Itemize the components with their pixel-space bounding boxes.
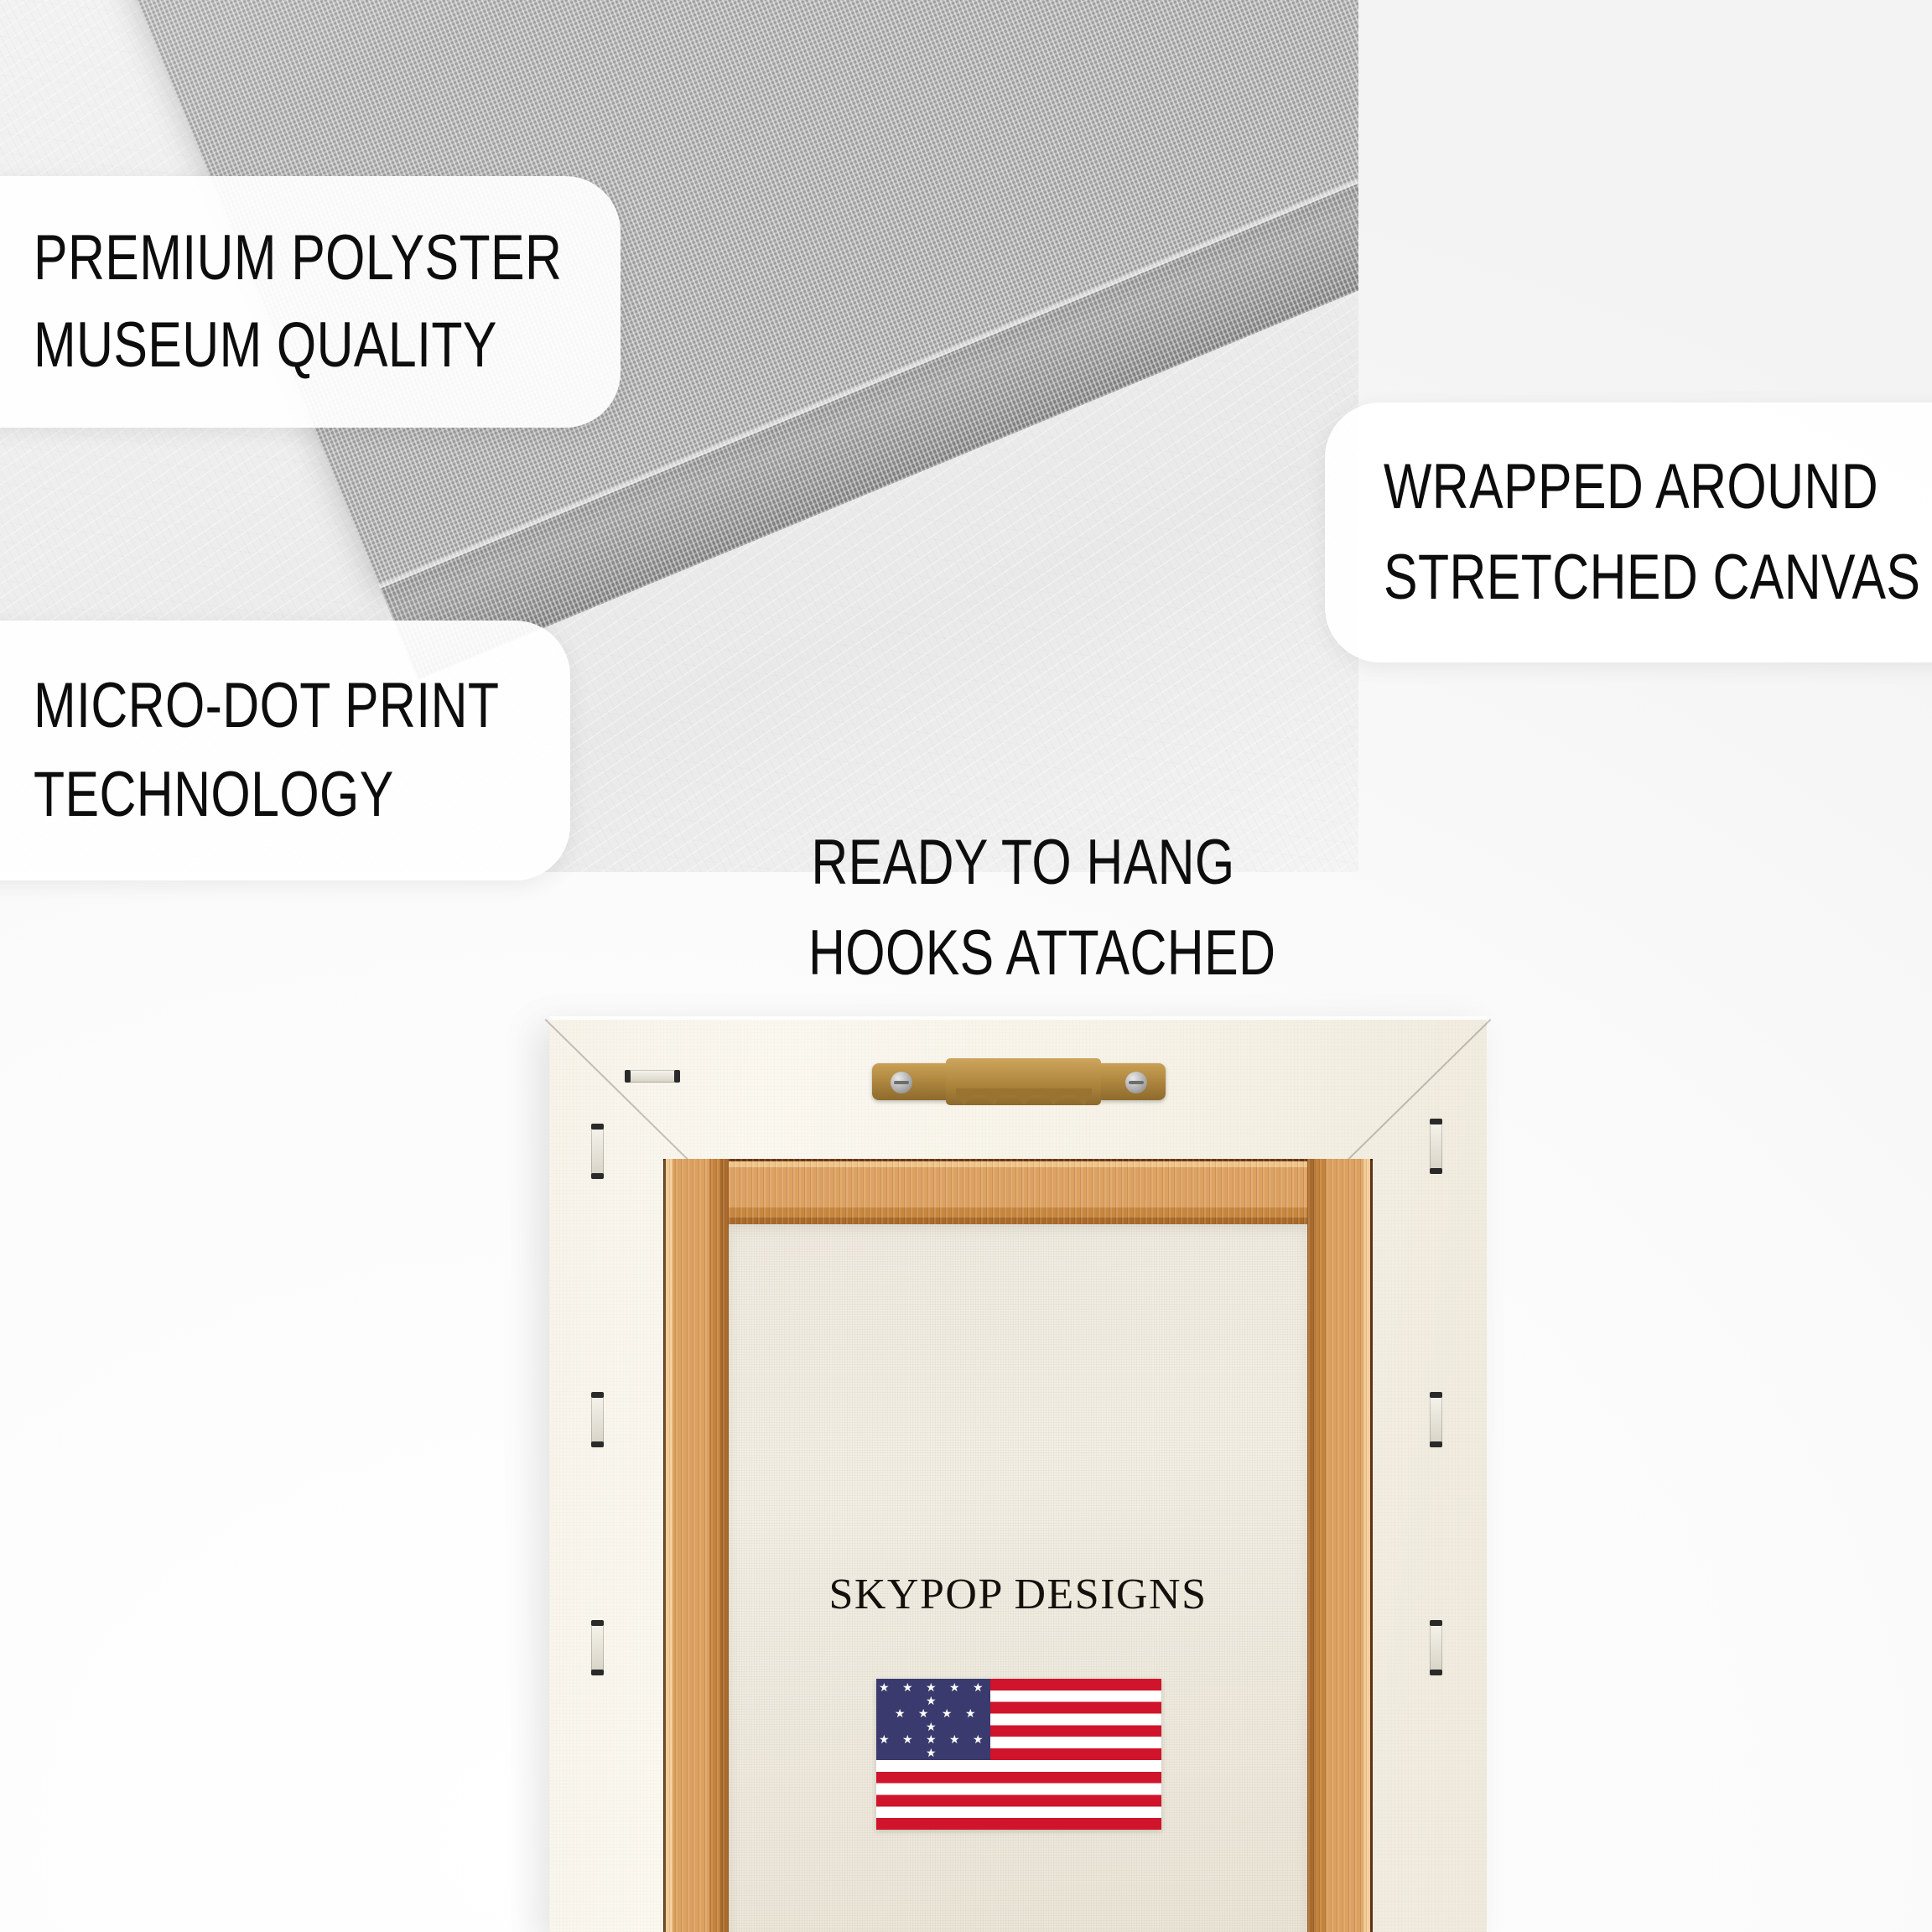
screw-icon	[891, 1072, 912, 1093]
sawtooth-hanger-icon	[872, 1058, 1166, 1105]
badge-line-1: WRAPPED AROUND	[1384, 442, 1927, 532]
staple-icon	[625, 1070, 680, 1083]
feature-text-ready-to-hang: READY TO HANG HOOKS ATTACHED	[755, 818, 1291, 999]
stretcher-bar-right	[1307, 1159, 1373, 1932]
screw-icon	[1125, 1072, 1147, 1093]
badge-line-1: MICRO-DOT PRINT	[34, 662, 463, 750]
badge-line-1: PREMIUM POLYSTER	[34, 215, 503, 302]
feature-badge-wrapped-around: WRAPPED AROUND STRETCHED CANVAS	[1325, 402, 1932, 662]
ready-line-2: HOOKS ATTACHED	[808, 908, 1238, 999]
badge-line-2: TECHNOLOGY	[34, 750, 463, 839]
us-flag-icon: ★ ★ ★ ★ ★ ★ ★ ★ ★ ★ ★★ ★ ★ ★ ★ ★ ★ ★ ★ ★…	[876, 1679, 1161, 1830]
canvas-back-photo: SKYPOP DESIGNS ★ ★ ★ ★ ★ ★ ★ ★ ★ ★ ★★ ★ …	[549, 1016, 1487, 1932]
feature-badge-premium-polyster: PREMIUM POLYSTER MUSEUM QUALITY	[0, 176, 621, 428]
feature-badge-micro-dot-print: MICRO-DOT PRINT TECHNOLOGY	[0, 621, 570, 880]
staple-icon	[1430, 1392, 1442, 1447]
staple-icon	[591, 1124, 604, 1179]
badge-line-2: STRETCHED CANVAS	[1384, 532, 1927, 623]
staple-icon	[1430, 1620, 1442, 1675]
staple-icon	[1430, 1119, 1442, 1174]
badge-line-2: MUSEUM QUALITY	[34, 302, 503, 389]
canvas-back-top-highlight	[549, 1016, 1487, 1020]
staple-icon	[591, 1392, 604, 1447]
infographic-canvas: PREMIUM POLYSTER MUSEUM QUALITY MICRO-DO…	[0, 0, 1932, 1932]
stretcher-bar-left	[663, 1159, 729, 1932]
staple-icon	[591, 1620, 604, 1675]
brand-name: SKYPOP DESIGNS	[729, 1570, 1307, 1619]
ready-line-1: READY TO HANG	[808, 818, 1238, 908]
stretcher-bar-top	[663, 1159, 1373, 1224]
